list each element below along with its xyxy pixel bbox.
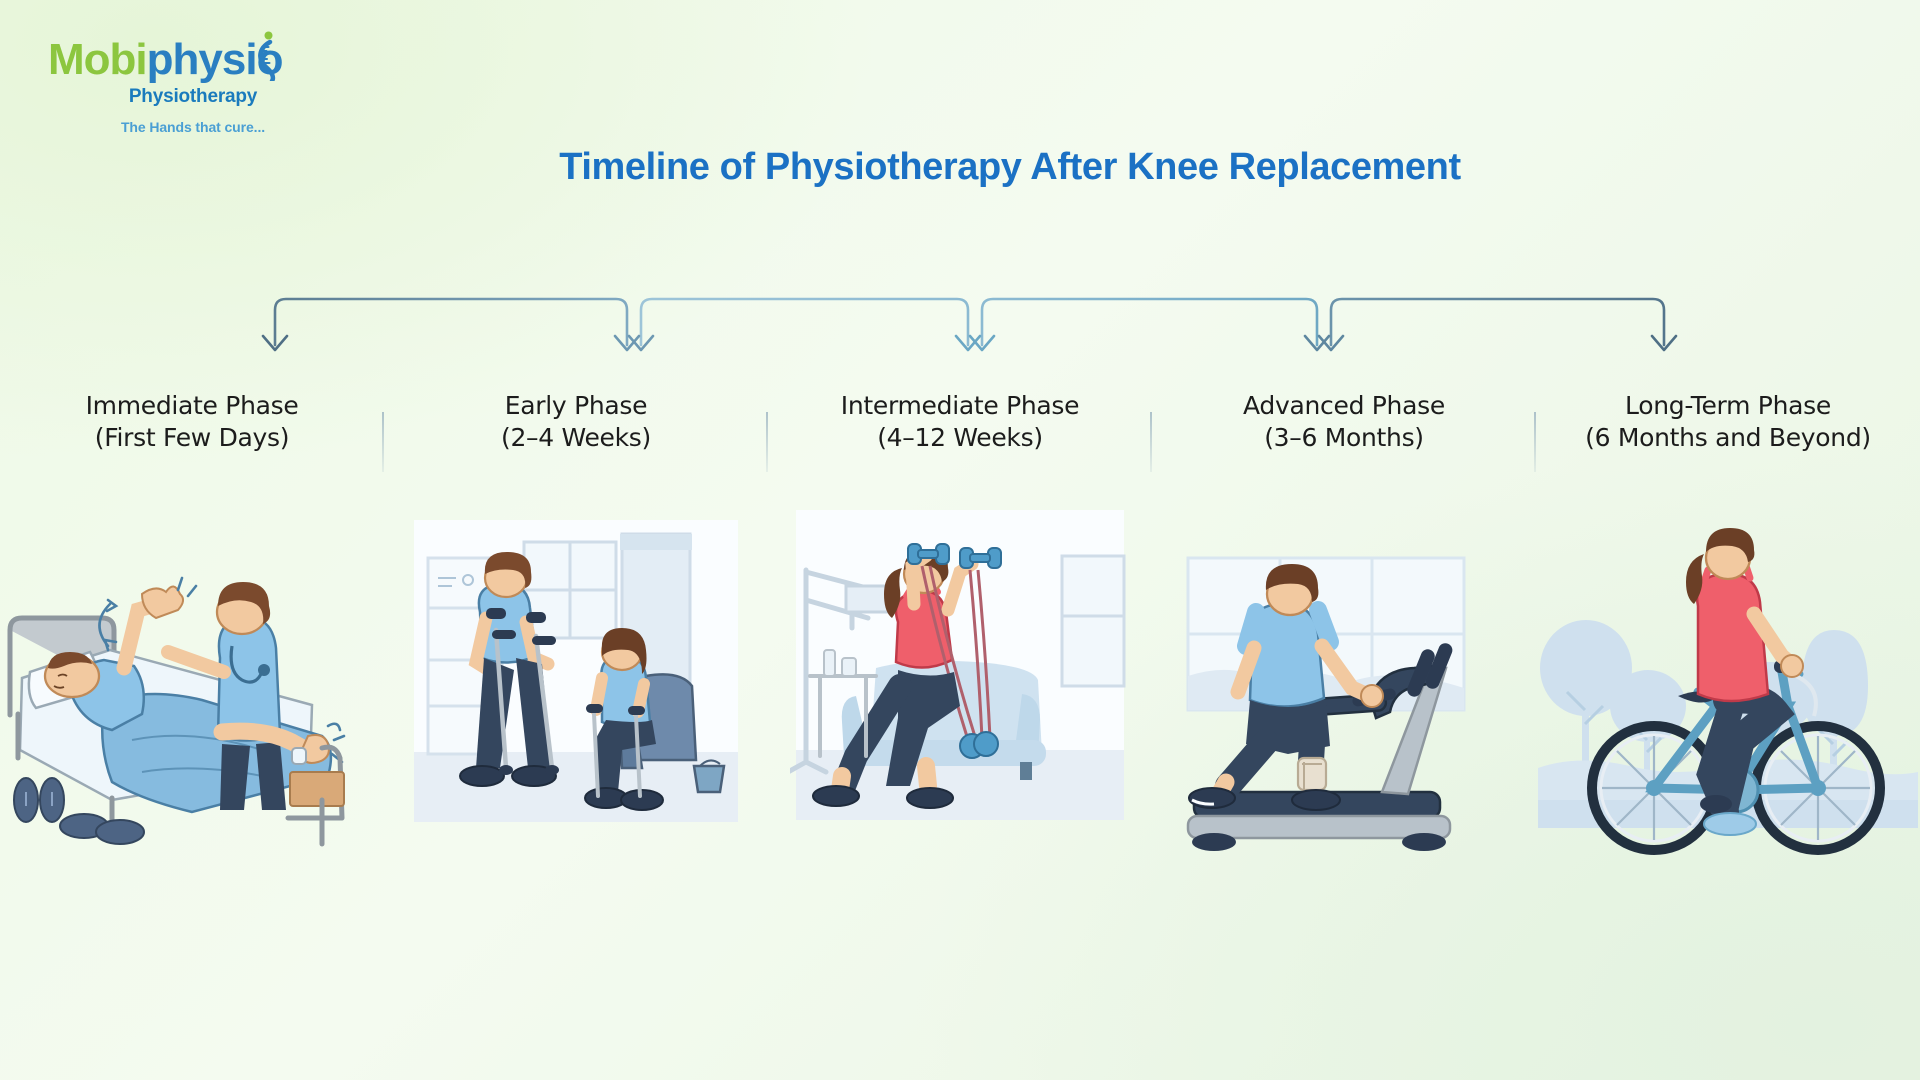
crutches-clinic-scene-icon (406, 500, 746, 900)
bracket-arrows-icon (0, 290, 1920, 370)
phase-duration-intermediate: (4–12 Weeks) (768, 422, 1152, 454)
phase-column-advanced[interactable]: Advanced Phase (3–6 Months) (1152, 390, 1536, 490)
resistance-band-dumbbell-scene-icon (790, 500, 1130, 900)
phase-name-advanced: Advanced Phase (1152, 390, 1536, 422)
page-title: Timeline of Physiotherapy After Knee Rep… (0, 146, 1920, 189)
scene-early (384, 500, 768, 920)
phase-name-intermediate: Intermediate Phase (768, 390, 1152, 422)
phase-duration-advanced: (3–6 Months) (1152, 422, 1536, 454)
scene-advanced (1152, 500, 1536, 920)
phase-label-row: Immediate Phase (First Few Days) Early P… (0, 390, 1920, 490)
brand-logo[interactable]: Mobiphysio Physiotherapy The Hands that … (48, 38, 338, 135)
phase-name-longterm: Long-Term Phase (1536, 390, 1920, 422)
phase-column-longterm[interactable]: Long-Term Phase (6 Months and Beyond) (1536, 390, 1920, 490)
scene-longterm (1536, 500, 1920, 920)
phase-duration-early: (2–4 Weeks) (384, 422, 768, 454)
scene-immediate (0, 500, 384, 920)
scene-intermediate (768, 500, 1152, 920)
phase-column-intermediate[interactable]: Intermediate Phase (4–12 Weeks) (768, 390, 1152, 490)
logo-text-mobi: Mobi (48, 35, 147, 84)
phase-duration-immediate: (First Few Days) (0, 422, 384, 454)
logo-wordmark: Mobiphysio (48, 38, 338, 82)
logo-subtitle: Physiotherapy (48, 86, 338, 108)
logo-text-physi: physi (147, 35, 257, 84)
spine-icon (246, 31, 280, 81)
phase-column-immediate[interactable]: Immediate Phase (First Few Days) (0, 390, 384, 490)
illustration-row (0, 500, 1920, 920)
phase-name-early: Early Phase (384, 390, 768, 422)
hospital-bed-scene-icon (0, 500, 392, 900)
bicycle-riding-scene-icon (1538, 500, 1918, 900)
treadmill-walking-scene-icon (1174, 500, 1514, 900)
phase-duration-longterm: (6 Months and Beyond) (1536, 422, 1920, 454)
phase-column-early[interactable]: Early Phase (2–4 Weeks) (384, 390, 768, 490)
phase-name-immediate: Immediate Phase (0, 390, 384, 422)
logo-tagline: The Hands that cure... (48, 119, 338, 135)
